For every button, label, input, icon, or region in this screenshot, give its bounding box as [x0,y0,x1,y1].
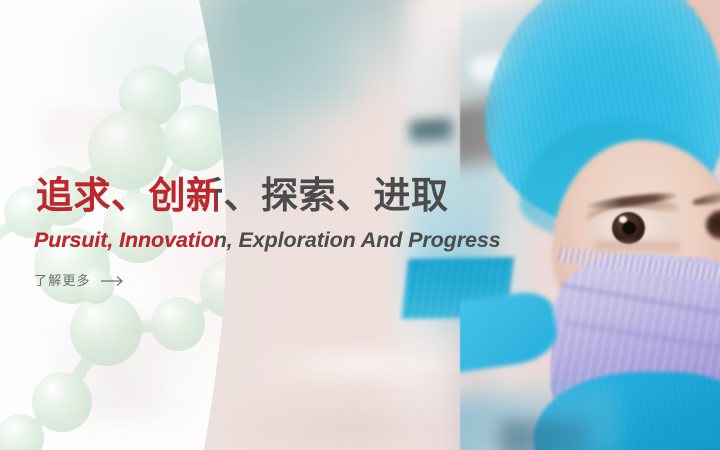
headline-block: 追求、创新、探索、进取 追求、创新、探索、进取 [36,176,449,216]
learn-more-label: 了解更多 [34,274,91,287]
hero-content: 追求、创新、探索、进取 追求、创新、探索、进取 Pursuit, Innovat… [0,0,720,450]
learn-more-button[interactable]: 了解更多 [34,274,125,287]
hero-subheadline: Pursuit, Innovation, Exploration And Pro… [34,228,501,253]
hero-headline: 追求、创新、探索、进取 追求、创新、探索、进取 [36,176,449,216]
subheadline-block: Pursuit, Innovation, Exploration And Pro… [34,228,501,253]
arrow-right-icon [101,276,125,286]
hero-banner: 追求、创新、探索、进取 追求、创新、探索、进取 Pursuit, Innovat… [0,0,720,450]
